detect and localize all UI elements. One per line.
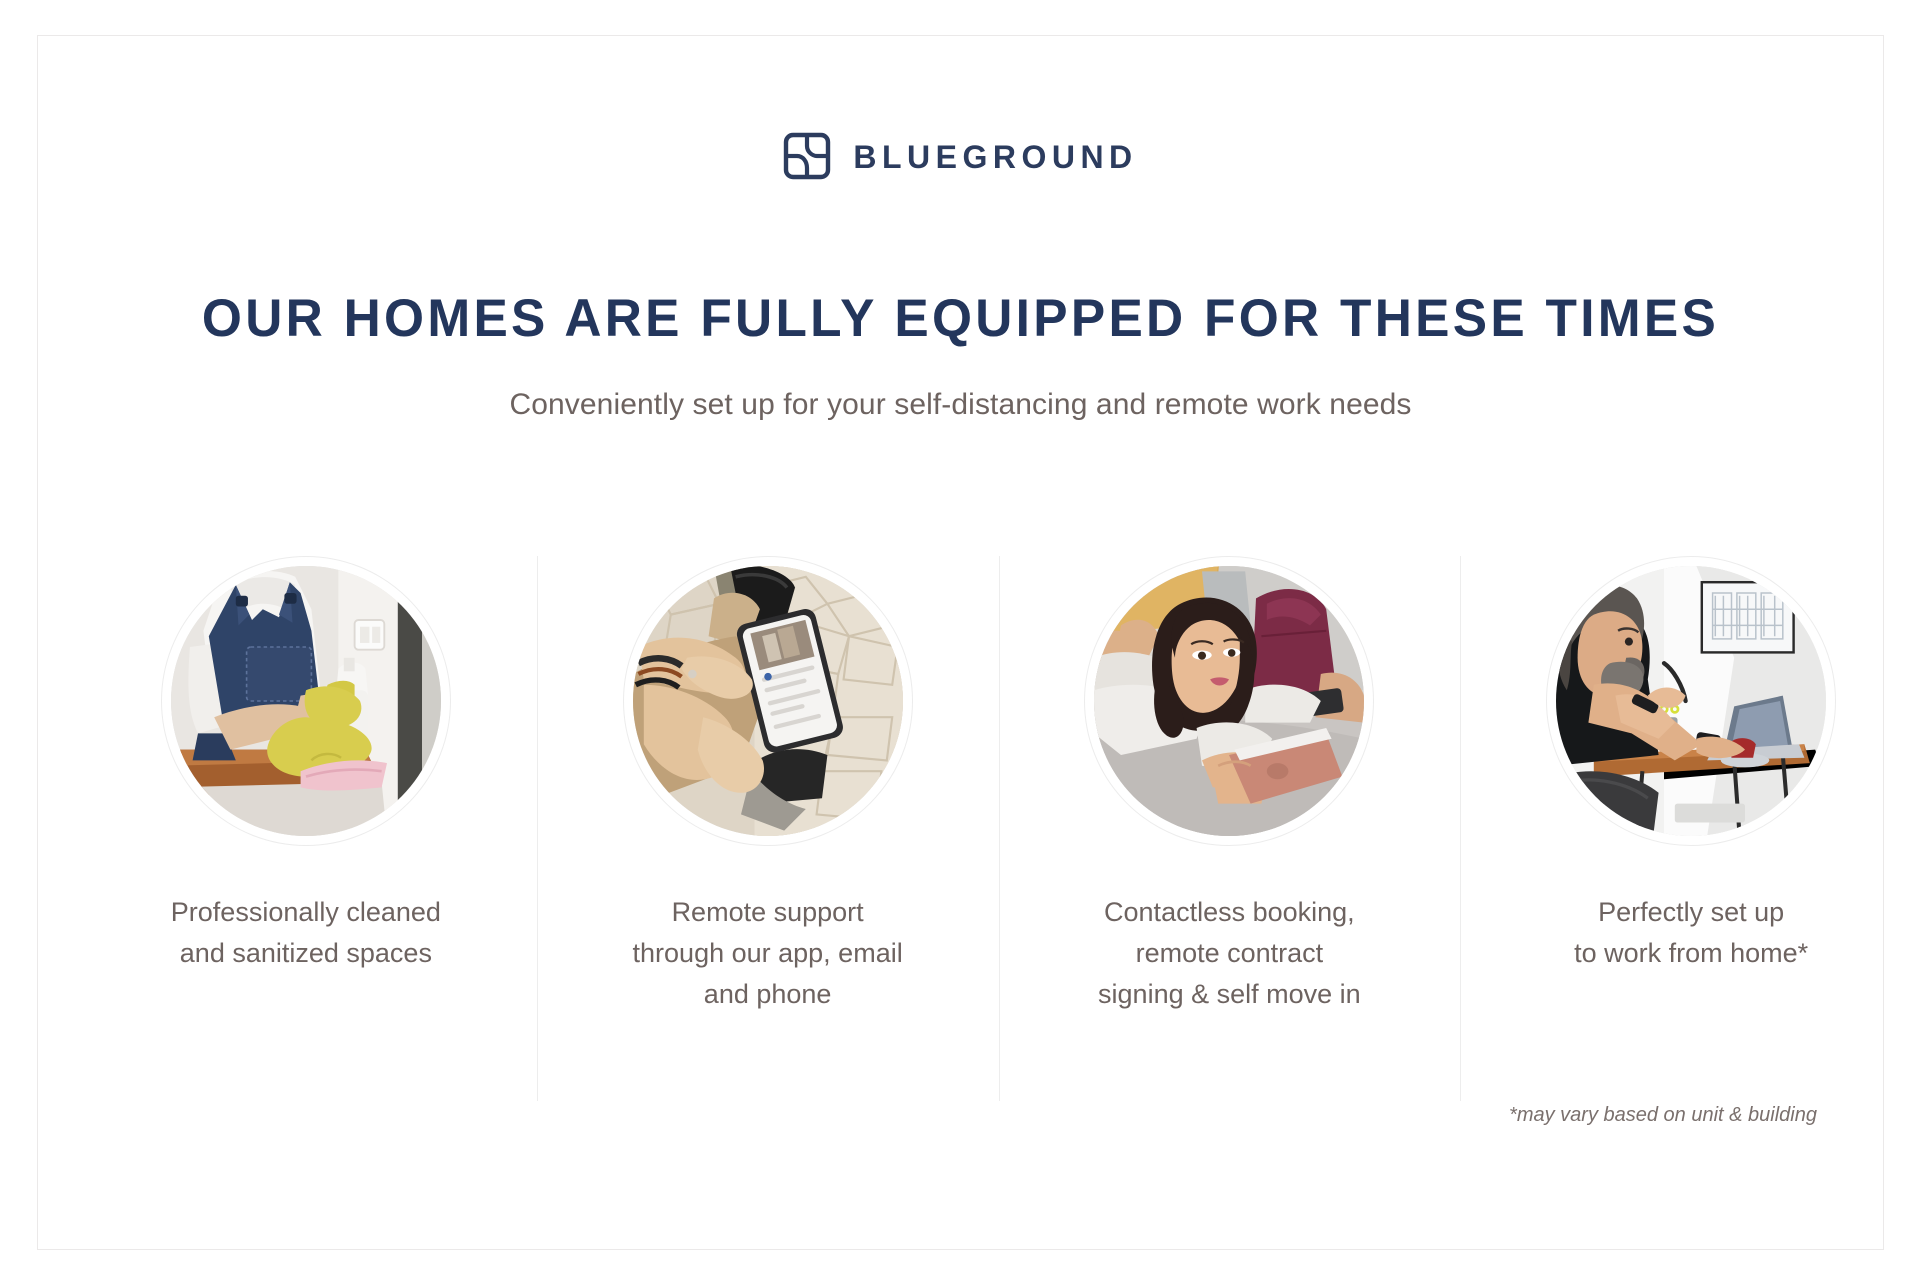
page-title: OUR HOMES ARE FULLY EQUIPPED FOR THESE T… [66,288,1856,349]
feature-caption: Professionally cleaned and sanitized spa… [171,892,441,974]
footnote-text: *may vary based on unit & building [1509,1104,1817,1127]
blueground-square-logo-icon [783,132,831,180]
thumbnail-ring [623,556,913,846]
feature-card: Professionally cleaned and sanitized spa… [75,556,537,1015]
feature-card-row: Professionally cleaned and sanitized spa… [75,556,1920,1015]
page-subtitle: Conveniently set up for your self-distan… [38,388,1883,422]
feature-card: Remote support through our app, email an… [537,556,999,1015]
cleaner-wiping-counter-photo [171,566,441,836]
hands-using-phone-app-photo [633,566,903,836]
man-working-at-desk-photo [1556,566,1826,836]
thumbnail-ring [161,556,451,846]
feature-card: Contactless booking, remote contract sig… [999,556,1461,1015]
feature-caption: Contactless booking, remote contract sig… [1098,892,1361,1015]
feature-caption: Remote support through our app, email an… [633,892,903,1015]
woman-with-tablet-on-bed-photo [1094,566,1364,836]
feature-caption: Perfectly set up to work from home* [1574,892,1808,974]
brand-lockup: BLUEGROUND [38,132,1883,180]
poster-frame: BLUEGROUND OUR HOMES ARE FULLY EQUIPPED … [37,35,1884,1250]
thumbnail-ring [1084,556,1374,846]
feature-card: Perfectly set up to work from home* [1460,556,1920,1015]
thumbnail-ring [1546,556,1836,846]
brand-wordmark: BLUEGROUND [853,139,1137,173]
poster-canvas: BLUEGROUND OUR HOMES ARE FULLY EQUIPPED … [0,0,1920,1280]
